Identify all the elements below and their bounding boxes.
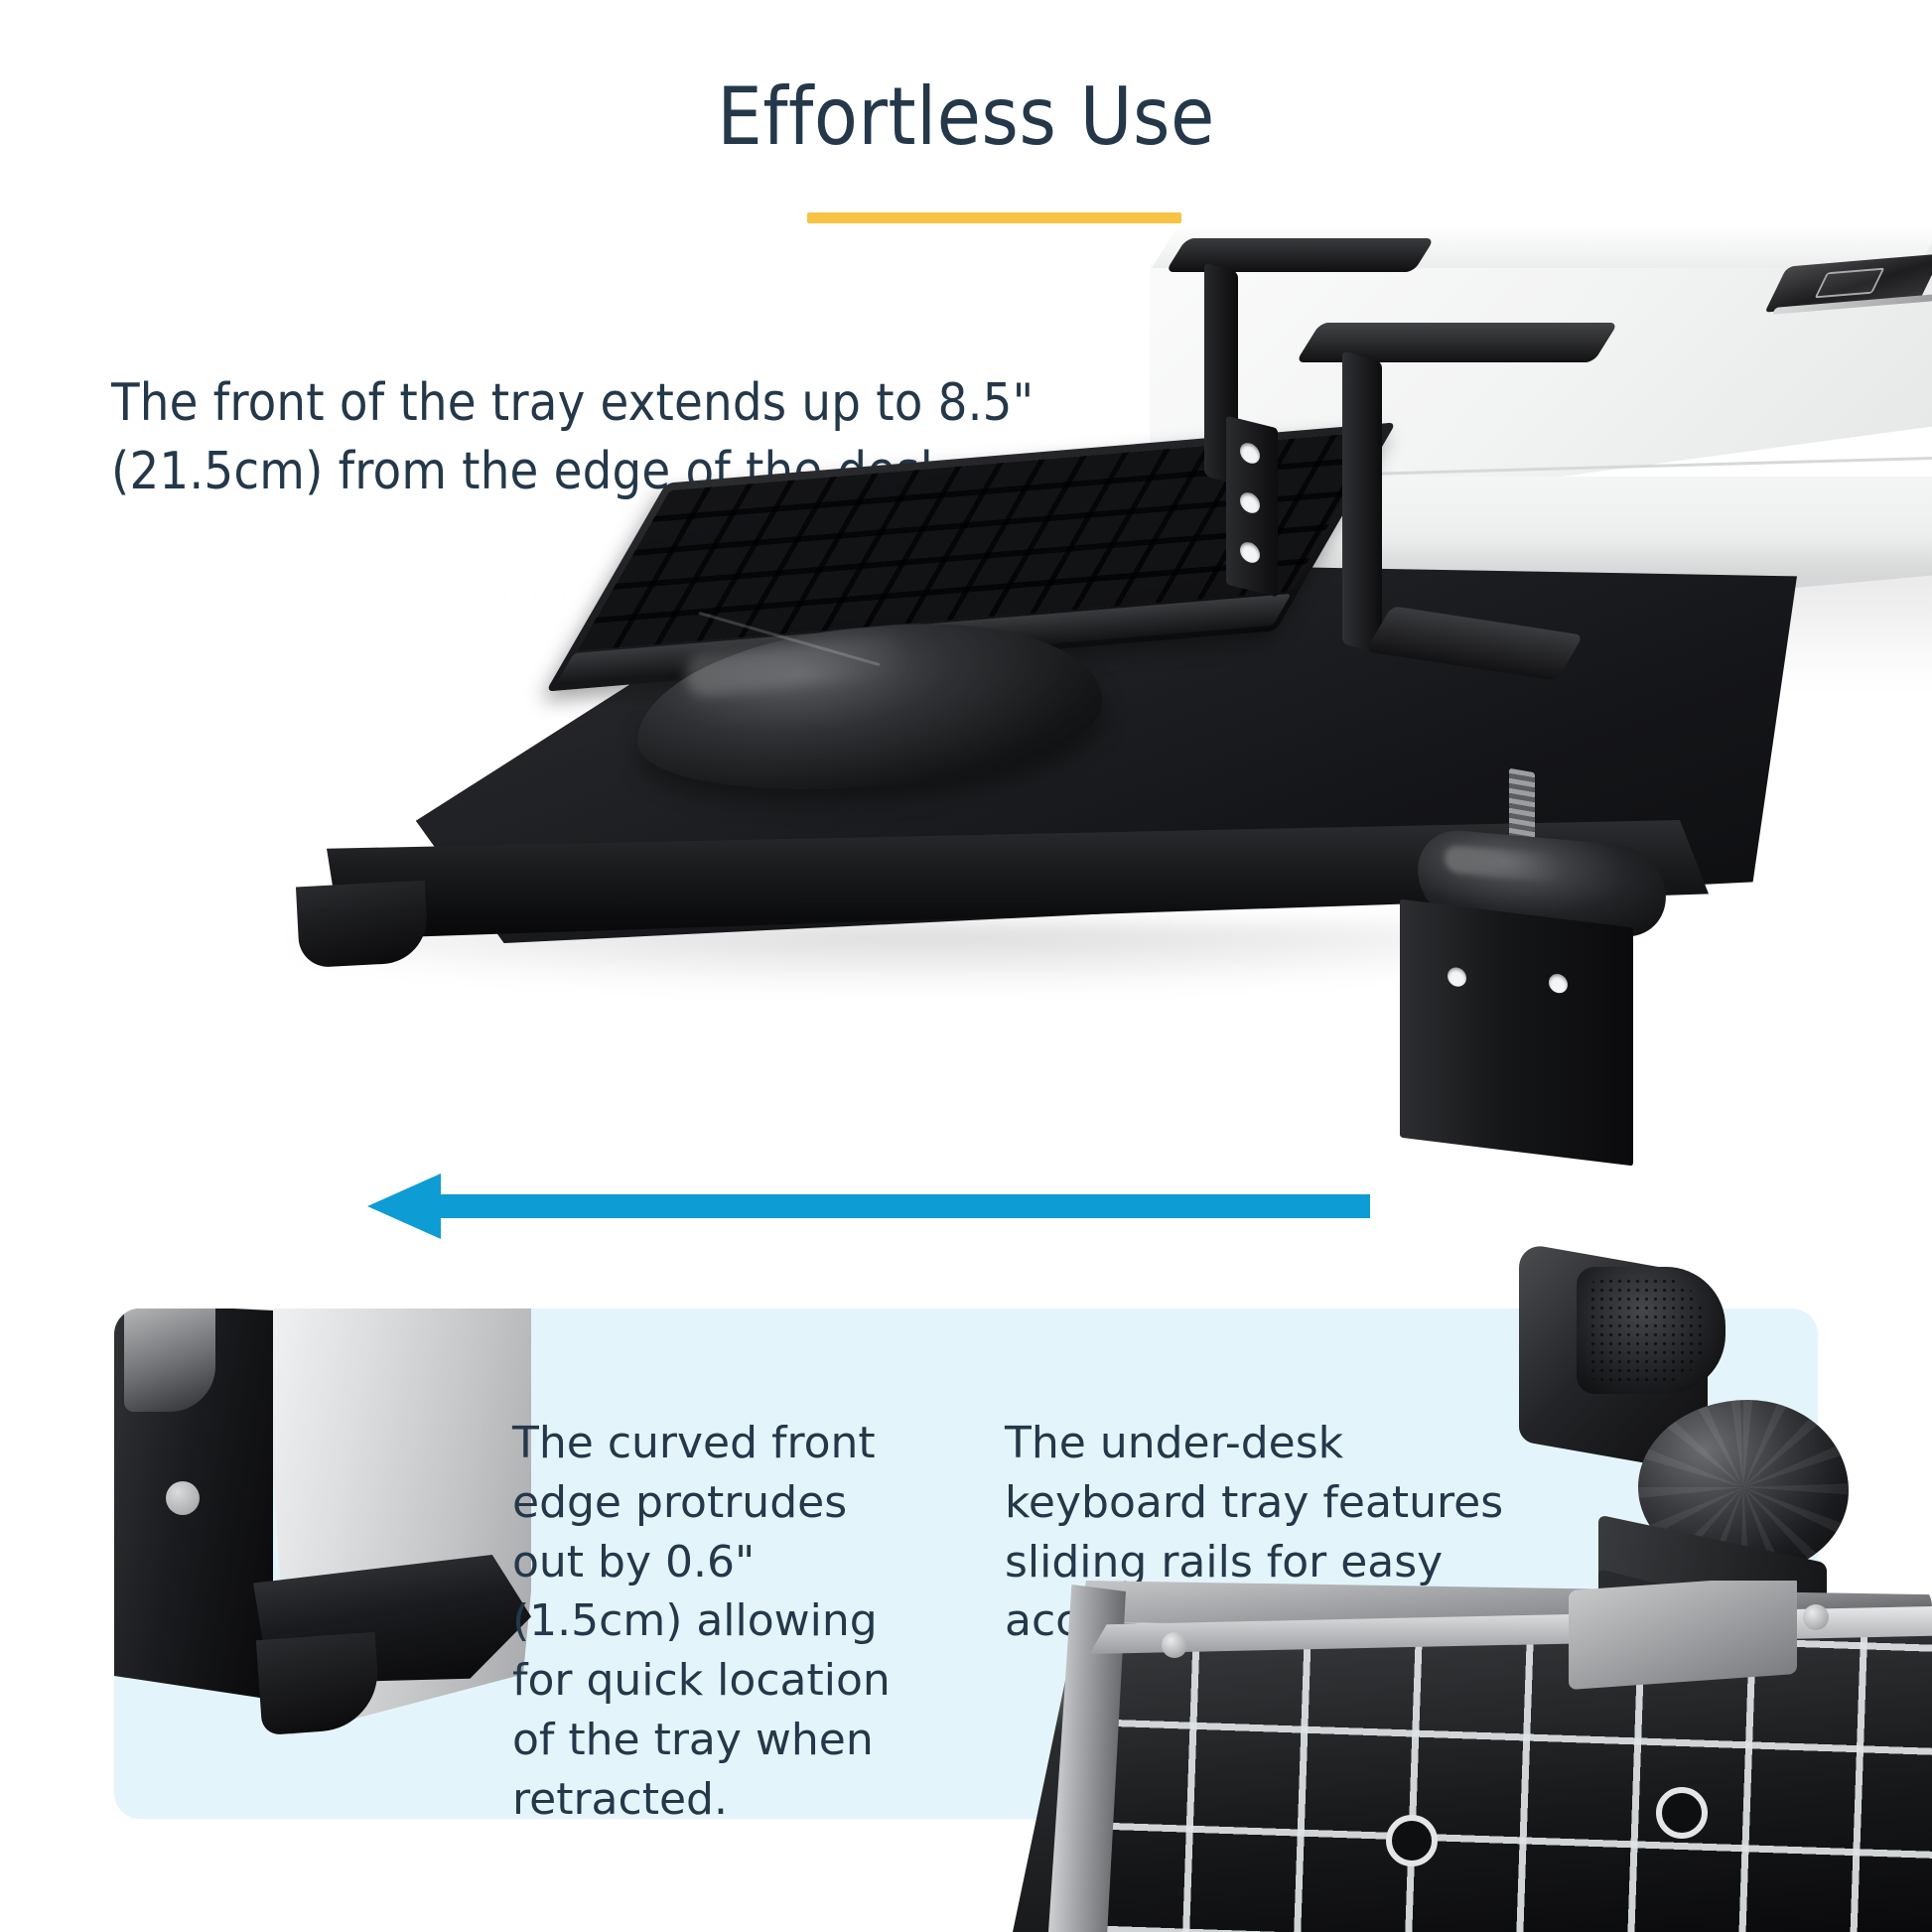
panel-caption-left: The curved front edge protrudes out by 0… [512, 1414, 899, 1830]
mount-bracket [1400, 899, 1633, 1167]
closeup-metal-tab [124, 1309, 215, 1412]
bracket-hole-icon [1448, 966, 1466, 987]
closeup-front-hook [256, 1632, 381, 1735]
title-underline-rule [807, 212, 1181, 223]
closeup-front-edge-photo [114, 1309, 531, 1785]
hero-product-photo [0, 228, 1932, 1211]
underside-ring-icon [1656, 1787, 1708, 1839]
underside-rib-grid [1082, 1622, 1932, 1932]
clamp-hole-icon [1240, 490, 1260, 515]
closeup-rivet-icon [166, 1481, 200, 1515]
underside-ring-icon [1386, 1815, 1438, 1866]
underside-center-bracket [1569, 1581, 1797, 1690]
clamp-hole-icon [1240, 441, 1260, 466]
mechanism-textured-pad [1588, 1277, 1708, 1384]
arrow-left-icon [367, 1168, 1370, 1245]
clamp-rear-plate [1226, 416, 1278, 598]
bracket-hole-icon [1549, 973, 1568, 994]
tray-underside-photo [1013, 1581, 1932, 1932]
page-root: Effortless Use The front of the tray ext… [0, 0, 1932, 1932]
clamp-front-vertical-arm [1342, 350, 1382, 654]
underside-screw-icon [1162, 1632, 1187, 1658]
page-title: Effortless Use [0, 77, 1932, 157]
underside-screw-icon [1803, 1604, 1829, 1630]
clamp-hole-icon [1240, 540, 1260, 565]
extension-direction-arrow [367, 1168, 1370, 1245]
